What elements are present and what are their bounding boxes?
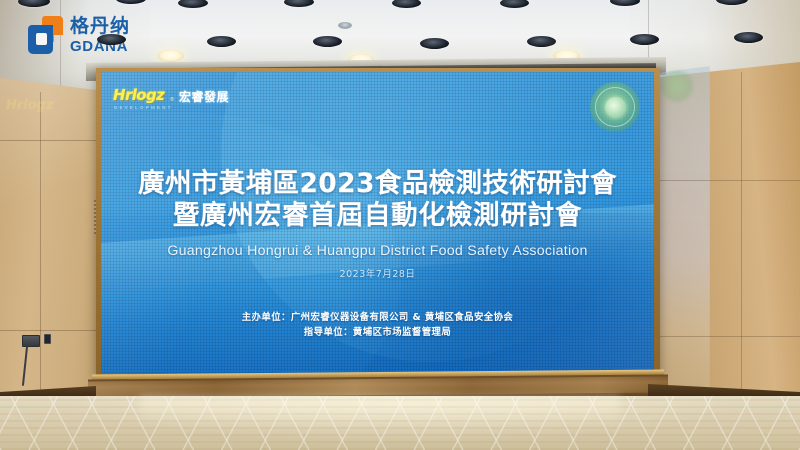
brand-tagline: DEVELOPMENT [114, 105, 229, 110]
downlight-icon [420, 38, 449, 49]
event-date: 2023年7月28日 [101, 266, 654, 280]
ceiling-sensor-icon [338, 22, 352, 29]
guidance-organization: 指导单位：黄埔区市场监督管理局 [101, 325, 654, 340]
wall-outlet-icon [22, 335, 40, 347]
subtitle-english: Guangzhou Hongrui & Huangpu District Foo… [101, 243, 654, 259]
wall-panel-seam [40, 92, 41, 392]
hongrui-brand-logo: Hrlogz ® 宏睿發展 DEVELOPMENT [113, 88, 229, 110]
floor-light-glow [140, 396, 620, 426]
downlight-icon [97, 34, 126, 45]
wall-switch-icon [44, 334, 51, 344]
emblem-ring [595, 87, 635, 127]
organizer-block: 主办单位：广州宏睿仪器设备有限公司 & 黄埔区食品安全协会 指导单位：黄埔区市场… [101, 310, 654, 340]
wall-panel-seam [650, 180, 800, 181]
downlight-on-icon [157, 50, 184, 62]
downlight-icon [313, 36, 342, 47]
wall-panel-seam [741, 72, 742, 392]
brand-cjk-text: 宏睿發展 [179, 91, 229, 103]
brand-latin-text: Hrlogz [113, 88, 164, 103]
trademark-icon: ® [170, 97, 174, 103]
downlight-icon [630, 34, 659, 45]
downlight-icon [207, 36, 236, 47]
wall-logo-reflection: Hrlogz [6, 96, 84, 118]
led-screen[interactable]: Hrlogz ® 宏睿發展 DEVELOPMENT 廣州市黃埔區2023食品檢測… [101, 72, 654, 373]
title-line-2: 暨廣州宏睿首屆自動化檢測研討會 [101, 200, 654, 232]
emblem-core [605, 97, 626, 118]
conference-room-photo: 格丹纳 GDANA Hrlogz [0, 0, 800, 450]
ceiling-logo-cn: 格丹纳 [70, 17, 130, 36]
wall-panel-seam [650, 336, 800, 337]
downlight-icon [734, 32, 763, 43]
gdana-mark-icon [28, 16, 64, 54]
screen-title-block: 廣州市黃埔區2023食品檢測技術研討會 暨廣州宏睿首屆自動化檢測研討會 Guan… [101, 168, 654, 280]
food-safety-emblem-icon [590, 82, 640, 132]
emblem-reflection [660, 70, 694, 102]
downlight-icon [527, 36, 556, 47]
title-line-1: 廣州市黃埔區2023食品檢測技術研討會 [101, 168, 654, 200]
host-organization: 主办单位：广州宏睿仪器设备有限公司 & 黄埔区食品安全协会 [101, 310, 654, 325]
